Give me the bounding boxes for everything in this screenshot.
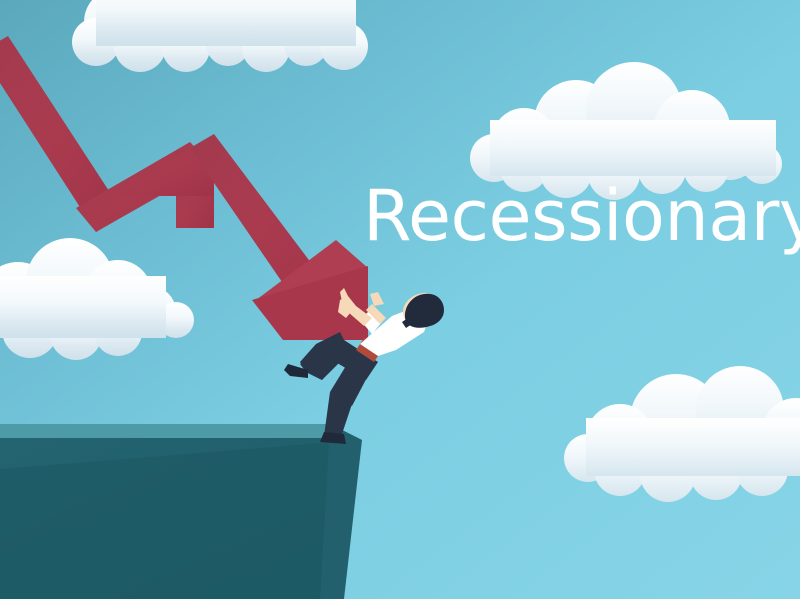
cliff-ledge <box>0 424 362 599</box>
scene-svg: Recessionary <box>0 0 800 599</box>
page-title: Recessionary <box>363 175 800 257</box>
cliff-edge-highlight <box>0 424 358 438</box>
illustration-canvas: Recessionary <box>0 0 800 599</box>
